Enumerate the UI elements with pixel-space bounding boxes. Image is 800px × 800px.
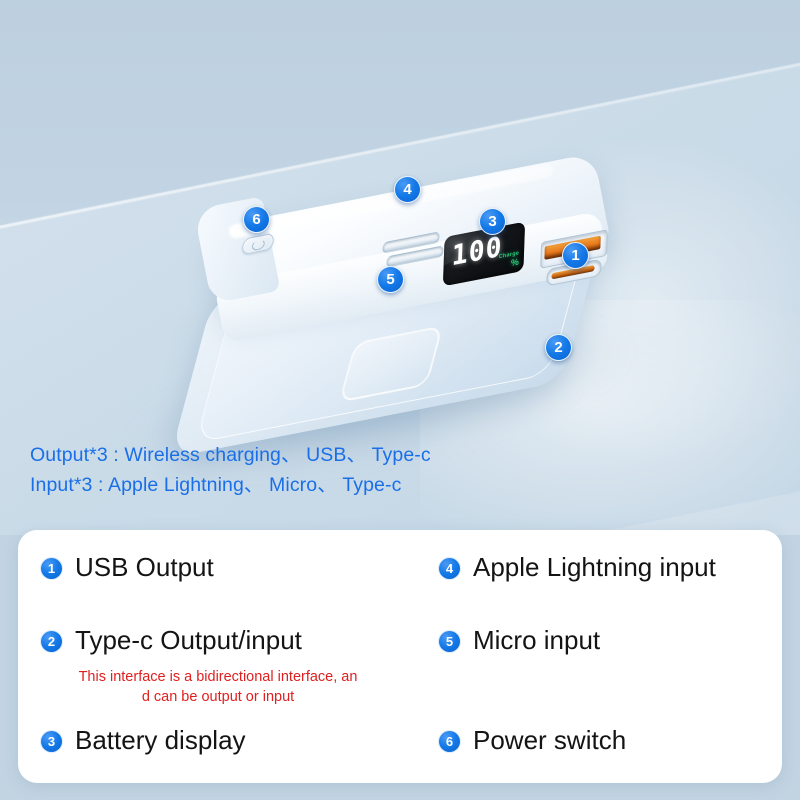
- legend-badge-5: 5: [438, 630, 461, 653]
- bidirectional-interface-note: This interface is a bidirectional interf…: [28, 668, 408, 707]
- note-line-2: d can be output or input: [28, 688, 408, 708]
- legend-badge-1: 1: [40, 557, 63, 580]
- legend-badge-2: 2: [40, 630, 63, 653]
- legend-item-type-c[interactable]: 2 Type-c Output/input: [40, 625, 302, 656]
- legend-label-4: Apple Lightning input: [473, 552, 716, 583]
- legend-item-battery-display[interactable]: 3 Battery display: [40, 725, 246, 756]
- legend-badge-4: 4: [438, 557, 461, 580]
- legend-badge-3: 3: [40, 730, 63, 753]
- legend-list: 1 USB Output 2 Type-c Output/input This …: [0, 0, 800, 800]
- legend-item-micro-input[interactable]: 5 Micro input: [438, 625, 600, 656]
- legend-item-usb-output[interactable]: 1 USB Output: [40, 552, 214, 583]
- legend-badge-6: 6: [438, 730, 461, 753]
- legend-label-3: Battery display: [75, 725, 246, 756]
- legend-label-1: USB Output: [75, 552, 214, 583]
- legend-item-apple-lightning[interactable]: 4 Apple Lightning input: [438, 552, 716, 583]
- legend-label-2: Type-c Output/input: [75, 625, 302, 656]
- infographic-root: 100 Charge % 1 2 3 4 5 6 Output*3 : Wire…: [0, 0, 800, 800]
- legend-item-power-switch[interactable]: 6 Power switch: [438, 725, 626, 756]
- legend-label-6: Power switch: [473, 725, 626, 756]
- legend-label-5: Micro input: [473, 625, 600, 656]
- note-line-1: This interface is a bidirectional interf…: [28, 668, 408, 688]
